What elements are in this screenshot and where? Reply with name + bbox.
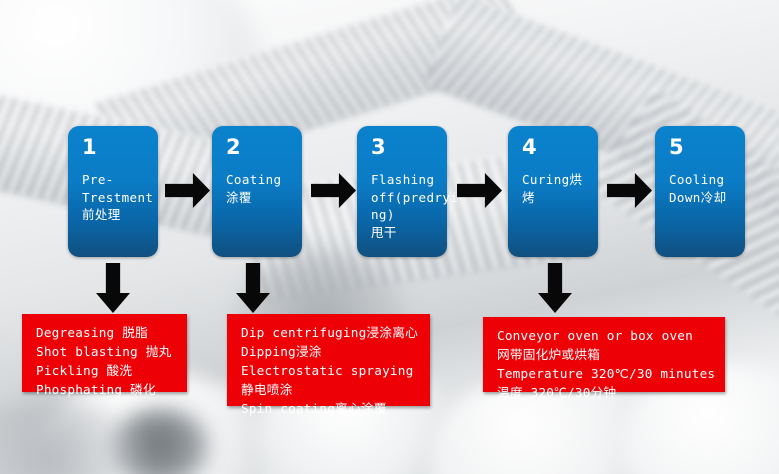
note-line: Pickling 酸洗: [36, 361, 177, 380]
step-label: Cooling Down冷却: [669, 171, 734, 206]
note-line: Phosphating 磷化: [36, 380, 177, 399]
note-line: Dip centrifuging浸涂离心: [241, 323, 420, 342]
step-label: Curing烘 烤: [522, 171, 587, 206]
note-line: 温度 320℃/30分钟: [497, 383, 715, 402]
note-line: Temperature 320℃/30 minutes: [497, 364, 715, 383]
step-number: 3: [371, 136, 436, 158]
step-number: 2: [226, 136, 291, 158]
process-step-4[interactable]: 4 Curing烘 烤: [508, 126, 598, 257]
process-step-3[interactable]: 3 Flashing off(predryi ng) 甩干: [357, 126, 447, 257]
note-line: Shot blasting 抛丸: [36, 342, 177, 361]
note-line: 静电喷涂: [241, 380, 420, 399]
step-number: 4: [522, 136, 587, 158]
step-label: Coating 涂覆: [226, 171, 291, 206]
note-panel-curing: Conveyor oven or box oven 网带固化炉或烘箱 Tempe…: [483, 317, 725, 392]
note-line: 网带固化炉或烘箱: [497, 345, 715, 364]
step-number: 1: [82, 136, 147, 158]
process-flow-diagram: 1 Pre- Trestment 前处理 2 Coating 涂覆 3 Flas…: [0, 0, 779, 474]
note-line: Conveyor oven or box oven: [497, 326, 715, 345]
note-line: Degreasing 脱脂: [36, 323, 177, 342]
note-line: Spin coating离心涂覆: [241, 399, 420, 418]
note-panel-pretreatment: Degreasing 脱脂 Shot blasting 抛丸 Pickling …: [22, 314, 187, 392]
process-step-5[interactable]: 5 Cooling Down冷却: [655, 126, 745, 257]
note-panel-coating: Dip centrifuging浸涂离心 Dipping浸涂 Electrost…: [227, 314, 430, 406]
step-label: Pre- Trestment 前处理: [82, 171, 147, 224]
note-line: Dipping浸涂: [241, 342, 420, 361]
note-line: Electrostatic spraying: [241, 361, 420, 380]
process-step-1[interactable]: 1 Pre- Trestment 前处理: [68, 126, 158, 257]
process-step-2[interactable]: 2 Coating 涂覆: [212, 126, 302, 257]
step-number: 5: [669, 136, 734, 158]
step-label: Flashing off(predryi ng) 甩干: [371, 171, 436, 241]
